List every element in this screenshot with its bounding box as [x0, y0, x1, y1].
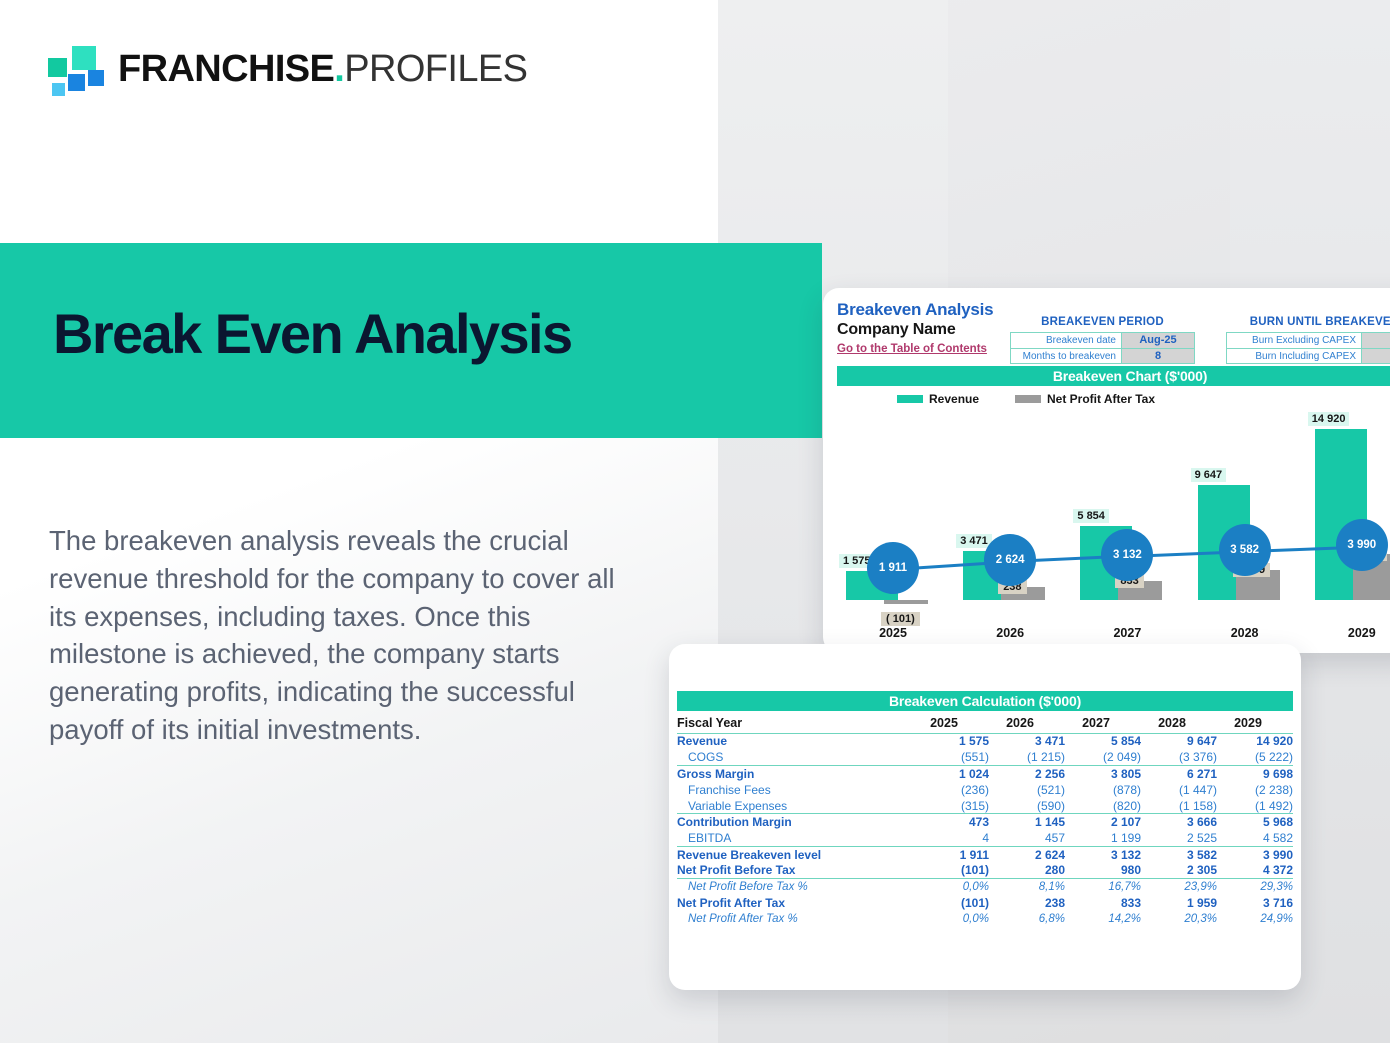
row-label: Contribution Margin: [677, 814, 913, 830]
row-label: Revenue: [677, 733, 913, 749]
cell-2029: 3 716: [1217, 895, 1293, 911]
row-label: Gross Margin: [677, 765, 913, 781]
table-of-contents-link[interactable]: Go to the Table of Contents: [837, 343, 987, 355]
breakeven-date-value[interactable]: Aug-25: [1122, 333, 1194, 348]
cell-2025: 1 911: [913, 846, 989, 862]
body-paragraph: The breakeven analysis reveals the cruci…: [49, 522, 629, 749]
kpi-row: Burn Including CAPEX: [1226, 348, 1390, 364]
burn-including-capex-value[interactable]: [1362, 349, 1390, 363]
breakeven-calculation-panel: Breakeven Calculation ($'000) Fiscal Yea…: [669, 644, 1301, 990]
burn-until-breakeven-heading: BURN UNTIL BREAKEVEN: [1226, 316, 1390, 328]
cell-2025: 473: [913, 814, 989, 830]
cell-2026: 2 624: [989, 846, 1065, 862]
cell-2028: (1 447): [1141, 782, 1217, 798]
kpi-row: Months to breakeven 8: [1010, 348, 1195, 364]
cell-2025: (101): [913, 895, 989, 911]
logo-square-teal: [48, 58, 67, 77]
breakeven-level-marker[interactable]: 2 624: [984, 534, 1036, 586]
burn-excluding-capex-value[interactable]: [1362, 333, 1390, 348]
row-label: Net Profit After Tax %: [677, 911, 913, 927]
row-label: Net Profit Before Tax: [677, 863, 913, 879]
cell-2027: (878): [1065, 782, 1141, 798]
cell-2029: 4 582: [1217, 830, 1293, 846]
x-axis-label-2026: 2026: [954, 626, 1066, 640]
x-axis-label-2025: 2025: [837, 626, 949, 640]
cell-2026: (590): [989, 798, 1065, 814]
chart-group-2028: 9 6471 959: [1189, 414, 1301, 612]
cell-2027: 3 805: [1065, 765, 1141, 781]
cell-2026: 3 471: [989, 733, 1065, 749]
x-axis-label-2029: 2029: [1306, 626, 1390, 640]
x-axis-label-2027: 2027: [1071, 626, 1183, 640]
table-row: Variable Expenses(315)(590)(820)(1 158)(…: [677, 798, 1293, 814]
cell-2029: (2 238): [1217, 782, 1293, 798]
column-header-2029: 2029: [1217, 714, 1293, 733]
bar-label-revenue: 3 471: [956, 534, 992, 548]
cell-2025: 0,0%: [913, 911, 989, 927]
cell-2026: (521): [989, 782, 1065, 798]
table-row: COGS(551)(1 215)(2 049)(3 376)(5 222): [677, 749, 1293, 765]
cell-2027: 16,7%: [1065, 879, 1141, 895]
column-header-2025: 2025: [913, 714, 989, 733]
cell-2029: 5 968: [1217, 814, 1293, 830]
cell-2029: 4 372: [1217, 863, 1293, 879]
logo-word-franchise: FRANCHISE: [118, 48, 334, 90]
chart-group-2029: 14 9203 716: [1306, 414, 1390, 612]
cell-2026: 280: [989, 863, 1065, 879]
cell-2028: 23,9%: [1141, 879, 1217, 895]
bar-label-revenue: 5 854: [1073, 509, 1109, 523]
breakeven-level-marker[interactable]: 3 582: [1219, 524, 1271, 576]
cell-2027: 2 107: [1065, 814, 1141, 830]
cell-2029: (1 492): [1217, 798, 1293, 814]
cell-2026: (1 215): [989, 749, 1065, 765]
cell-2028: 2 525: [1141, 830, 1217, 846]
breakeven-level-marker[interactable]: 3 132: [1101, 529, 1153, 581]
column-header-fiscal-year: Fiscal Year: [677, 714, 913, 733]
breakeven-calculation-table: Fiscal Year20252026202720282029Revenue1 …: [677, 714, 1293, 927]
column-header-2026: 2026: [989, 714, 1065, 733]
cell-2028: (3 376): [1141, 749, 1217, 765]
cell-2025: (101): [913, 863, 989, 879]
cell-2025: 4: [913, 830, 989, 846]
cell-2027: (820): [1065, 798, 1141, 814]
cell-2027: 833: [1065, 895, 1141, 911]
cell-2027: 1 199: [1065, 830, 1141, 846]
table-header-row: Fiscal Year20252026202720282029: [677, 714, 1293, 733]
bar-net-profit-after-tax[interactable]: [884, 600, 928, 604]
chart-group-2027: 5 854833: [1071, 414, 1183, 612]
logo-word-profiles: PROFILES: [344, 48, 527, 90]
legend-label-revenue: Revenue: [929, 392, 979, 406]
calculation-title-bar: Breakeven Calculation ($'000): [677, 691, 1293, 711]
kpi-row: Burn Excluding CAPEX: [1226, 332, 1390, 348]
row-label: Variable Expenses: [677, 798, 913, 814]
page-title: Break Even Analysis: [53, 305, 572, 364]
breakeven-date-label: Breakeven date: [1011, 333, 1122, 348]
cell-2025: (236): [913, 782, 989, 798]
cell-2027: 3 132: [1065, 846, 1141, 862]
logo-square-blue-2: [88, 70, 104, 86]
breakeven-period-heading: BREAKEVEN PERIOD: [1010, 316, 1195, 328]
cell-2027: 5 854: [1065, 733, 1141, 749]
logo-dot: .: [334, 48, 344, 90]
cell-2029: 24,9%: [1217, 911, 1293, 927]
table-row: Net Profit Before Tax %0,0%8,1%16,7%23,9…: [677, 879, 1293, 895]
cell-2025: (551): [913, 749, 989, 765]
slide-canvas: FRANCHISE.PROFILES Break Even Analysis T…: [0, 0, 1390, 1043]
cell-2029: 3 990: [1217, 846, 1293, 862]
legend-label-npat: Net Profit After Tax: [1047, 392, 1155, 406]
cell-2026: 6,8%: [989, 911, 1065, 927]
table-row: Revenue Breakeven level1 9112 6243 1323 …: [677, 846, 1293, 862]
row-label: COGS: [677, 749, 913, 765]
cell-2029: 14 920: [1217, 733, 1293, 749]
chart-legend: Revenue Net Profit After Tax Revenue Bre…: [837, 392, 1390, 408]
months-to-breakeven-value[interactable]: 8: [1122, 349, 1194, 363]
logo-square-mint: [72, 46, 96, 70]
chart-title-bar: Breakeven Chart ($'000): [837, 366, 1390, 386]
row-label: Revenue Breakeven level: [677, 846, 913, 862]
breakeven-level-marker[interactable]: 1 911: [867, 542, 919, 594]
table-row: Gross Margin1 0242 2563 8056 2719 698: [677, 765, 1293, 781]
cell-2028: 3 666: [1141, 814, 1217, 830]
cell-2027: 980: [1065, 863, 1141, 879]
row-label: Net Profit After Tax: [677, 895, 913, 911]
table-row: Net Profit After Tax(101)2388331 9593 71…: [677, 895, 1293, 911]
table-row: Net Profit After Tax %0,0%6,8%14,2%20,3%…: [677, 911, 1293, 927]
months-to-breakeven-label: Months to breakeven: [1011, 349, 1122, 363]
cell-2027: 14,2%: [1065, 911, 1141, 927]
cell-2029: 9 698: [1217, 765, 1293, 781]
column-header-2027: 2027: [1065, 714, 1141, 733]
cell-2026: 1 145: [989, 814, 1065, 830]
table-row: EBITDA44571 1992 5254 582: [677, 830, 1293, 846]
cell-2027: (2 049): [1065, 749, 1141, 765]
logo-square-blue-1: [68, 74, 85, 91]
breakeven-period-block: BREAKEVEN PERIOD Breakeven date Aug-25 M…: [1010, 316, 1195, 364]
cell-2028: 2 305: [1141, 863, 1217, 879]
logo-wordmark: FRANCHISE.PROFILES: [118, 50, 527, 88]
legend-swatch-revenue-icon: [897, 395, 923, 403]
row-label: EBITDA: [677, 830, 913, 846]
logo-square-sky: [52, 83, 65, 96]
cell-2028: 20,3%: [1141, 911, 1217, 927]
cell-2025: (315): [913, 798, 989, 814]
cell-2026: 2 256: [989, 765, 1065, 781]
cell-2025: 0,0%: [913, 879, 989, 895]
cell-2026: 457: [989, 830, 1065, 846]
brand-logo[interactable]: FRANCHISE.PROFILES: [46, 44, 527, 94]
cell-2025: 1 024: [913, 765, 989, 781]
kpi-row: Breakeven date Aug-25: [1010, 332, 1195, 348]
cell-2029: 29,3%: [1217, 879, 1293, 895]
legend-item-revenue[interactable]: Revenue: [897, 392, 979, 406]
burn-until-breakeven-block: BURN UNTIL BREAKEVEN Burn Excluding CAPE…: [1226, 316, 1390, 364]
cell-2025: 1 575: [913, 733, 989, 749]
table-row: Net Profit Before Tax(101)2809802 3054 3…: [677, 863, 1293, 879]
cell-2028: (1 158): [1141, 798, 1217, 814]
breakeven-level-marker[interactable]: 3 990: [1336, 519, 1388, 571]
burn-excluding-capex-label: Burn Excluding CAPEX: [1227, 333, 1362, 348]
table-row: Franchise Fees(236)(521)(878)(1 447)(2 2…: [677, 782, 1293, 798]
legend-item-net-profit-after-tax[interactable]: Net Profit After Tax: [1015, 392, 1155, 406]
logo-mark-icon: [46, 44, 104, 94]
cell-2026: 8,1%: [989, 879, 1065, 895]
x-axis-label-2028: 2028: [1189, 626, 1301, 640]
bar-label-revenue: 14 920: [1308, 412, 1350, 426]
burn-including-capex-label: Burn Including CAPEX: [1227, 349, 1362, 363]
column-header-2028: 2028: [1141, 714, 1217, 733]
breakeven-chart-panel: Breakeven Analysis Company Name Go to th…: [823, 288, 1390, 653]
cell-2028: 1 959: [1141, 895, 1217, 911]
cell-2029: (5 222): [1217, 749, 1293, 765]
table-row: Contribution Margin4731 1452 1073 6665 9…: [677, 814, 1293, 830]
row-label: Net Profit Before Tax %: [677, 879, 913, 895]
row-label: Franchise Fees: [677, 782, 913, 798]
chart-plot-area: 1 575( 101)3 4712385 8548339 6471 95914 …: [837, 414, 1390, 612]
bar-label-revenue: 9 647: [1191, 468, 1227, 482]
bar-label-net-profit-after-tax: ( 101): [881, 612, 920, 626]
cell-2026: 238: [989, 895, 1065, 911]
cell-2028: 6 271: [1141, 765, 1217, 781]
table-row: Revenue1 5753 4715 8549 64714 920: [677, 733, 1293, 749]
chart-x-axis-labels: 20252026202720282029: [837, 626, 1390, 644]
cell-2028: 3 582: [1141, 846, 1217, 862]
cell-2028: 9 647: [1141, 733, 1217, 749]
legend-swatch-npat-icon: [1015, 395, 1041, 403]
